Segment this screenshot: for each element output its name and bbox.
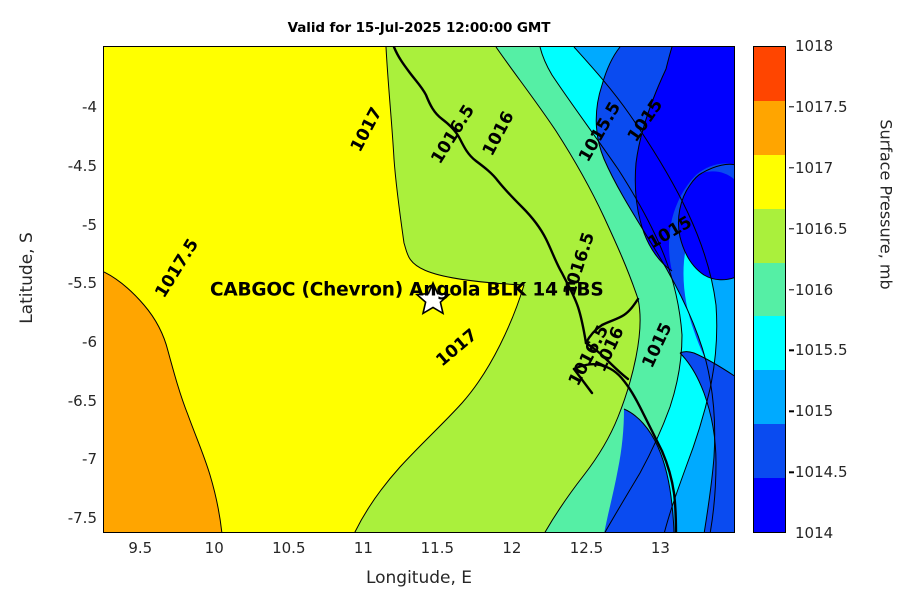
y-axis-ticks: -4 -4.5 -5 -5.5 -6 -6.5 -7 -7.5 <box>33 46 97 533</box>
x-tick-label: 11.5 <box>397 539 477 557</box>
y-tick-label: -4 <box>37 98 97 116</box>
colorbar[interactable] <box>753 46 786 533</box>
x-tick-label: 12.5 <box>546 539 626 557</box>
y-tick-label: -4.5 <box>37 157 97 175</box>
colorbar-axis-label: Surface Pressure, mb <box>877 105 896 305</box>
colorbar-tick-label: 1016 <box>795 281 833 299</box>
colorbar-band <box>754 155 785 209</box>
colorbar-tick-label: 1015.5 <box>795 341 848 359</box>
x-tick-label: 10 <box>174 539 254 557</box>
colorbar-ticks: 1018 1017.5 1017 1016.5 1016 1015.5 1015… <box>789 46 859 533</box>
colorbar-tick-label: 1018 <box>795 37 833 55</box>
colorbar-band <box>754 478 785 532</box>
colorbar-tick-label: 1016.5 <box>795 220 848 238</box>
colorbar-band <box>754 47 785 101</box>
colorbar-tick-label: 1014.5 <box>795 463 848 481</box>
colorbar-band <box>754 101 785 155</box>
y-tick-label: -6.5 <box>37 392 97 410</box>
colorbar-band <box>754 316 785 370</box>
y-tick-label: -5.5 <box>37 274 97 292</box>
y-tick-label: -6 <box>37 333 97 351</box>
colorbar-band <box>754 209 785 263</box>
y-tick-label: -7.5 <box>37 509 97 527</box>
colorbar-tick-label: 1014 <box>795 524 833 542</box>
x-axis-label: Longitude, E <box>103 568 735 588</box>
y-tick-label: -5 <box>37 216 97 234</box>
x-tick-label: 10.5 <box>249 539 329 557</box>
x-tick-label: 13 <box>620 539 700 557</box>
y-tick-label: -7 <box>37 450 97 468</box>
page-title: Valid for 15-Jul-2025 12:00:00 GMT <box>103 20 735 36</box>
x-tick-label: 9.5 <box>100 539 180 557</box>
station-annotation-label: CABGOC (Chevron) Angola BLK 14 FBS <box>210 280 603 301</box>
x-tick-label: 12 <box>472 539 552 557</box>
x-tick-label: 11 <box>323 539 403 557</box>
colorbar-band <box>754 263 785 317</box>
pressure-map-figure: Valid for 15-Jul-2025 12:00:00 GMT <box>0 0 900 600</box>
colorbar-band <box>754 370 785 424</box>
colorbar-band <box>754 424 785 478</box>
colorbar-tick-label: 1017 <box>795 159 833 177</box>
x-axis-ticks: 9.5 10 10.5 11 11.5 12 12.5 13 <box>103 539 735 561</box>
colorbar-tick-label: 1015 <box>795 402 833 420</box>
colorbar-tick-label: 1017.5 <box>795 98 848 116</box>
y-axis-label: Latitude, S <box>17 158 37 398</box>
